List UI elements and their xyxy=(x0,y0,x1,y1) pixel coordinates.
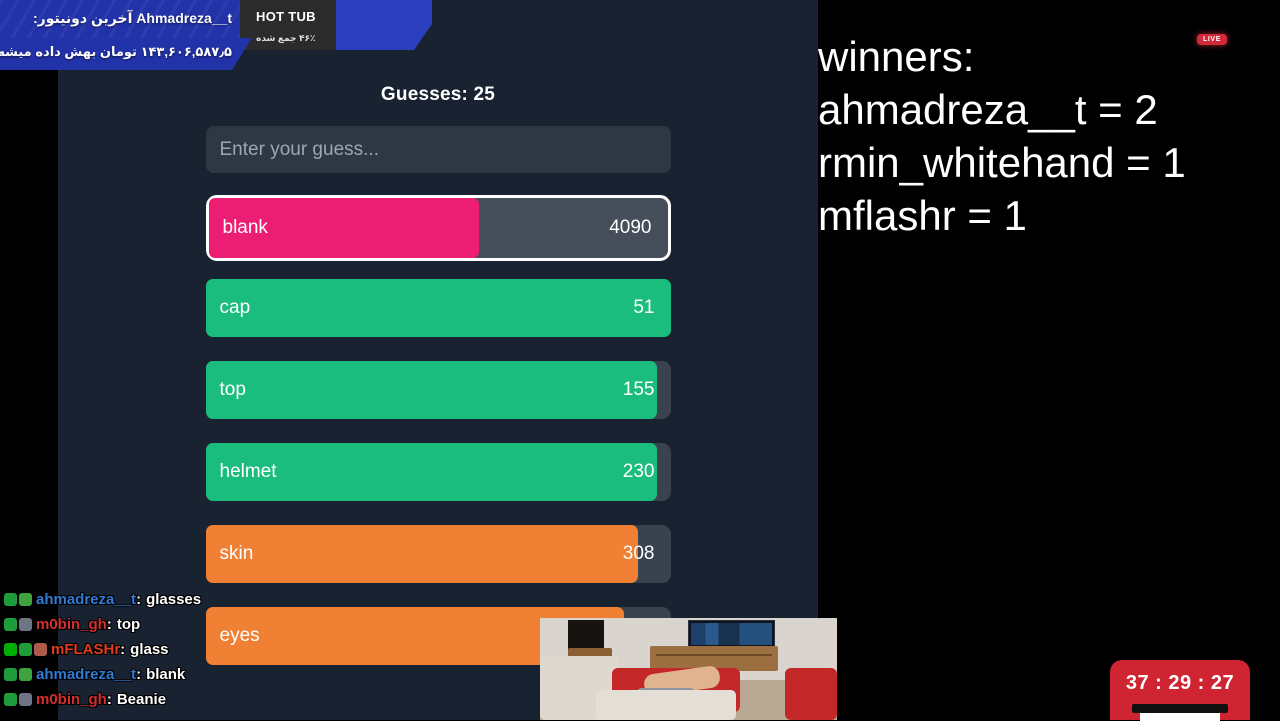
chat-username[interactable]: m0bin_gh xyxy=(36,691,107,708)
donation-amount-line: ۱۴۳,۶۰۶,۵۸۷٫۵ تومان بهش داده میشه xyxy=(0,44,240,60)
guess-bar-fill xyxy=(206,525,638,583)
winner-entry: ahmadreza__t = 2 xyxy=(818,83,1258,136)
guess-bar-fill xyxy=(206,279,671,337)
donor-label: آخرین دونیتور: xyxy=(33,10,132,26)
chat-text: glasses xyxy=(146,591,201,608)
chat-badge-icon xyxy=(4,643,17,656)
guess-bar-value: 155 xyxy=(623,379,655,401)
guess-bar-label: top xyxy=(220,379,246,401)
guess-input[interactable]: Enter your guess... xyxy=(206,126,671,173)
guess-bar-row[interactable]: cap51 xyxy=(206,279,671,337)
chat-badges xyxy=(4,643,47,656)
chat-message: m0bin_gh:Beanie xyxy=(4,687,304,712)
chat-colon: : xyxy=(120,641,125,658)
chat-message: mFLASHr:glass xyxy=(4,637,304,662)
donor-name: Ahmadreza__t xyxy=(136,10,232,26)
donation-banner: Ahmadreza__t آخرین دونیتور: ۱۴۳,۶۰۶,۵۸۷٫… xyxy=(0,0,432,50)
guess-bar-value: 308 xyxy=(623,543,655,565)
guess-bar-label: cap xyxy=(220,297,251,319)
winner-entry: mflashr = 1 xyxy=(818,189,1258,242)
chat-username[interactable]: mFLASHr xyxy=(51,641,120,658)
winners-heading: winners: xyxy=(818,30,1258,83)
goal-progress: ۴۶٪ جمع شده xyxy=(256,33,316,44)
webcam-tv xyxy=(688,620,775,648)
guess-bar-row[interactable]: top155 xyxy=(206,361,671,419)
guess-bar-row[interactable]: blank4090 xyxy=(206,195,671,261)
chat-colon: : xyxy=(136,591,141,608)
guess-bar-label: helmet xyxy=(220,461,277,483)
webcam-sofa-front xyxy=(596,690,736,720)
guess-bar-row[interactable]: skin308 xyxy=(206,525,671,583)
chat-badges xyxy=(4,618,32,631)
chat-badge-icon xyxy=(19,593,32,606)
chat-badge-icon xyxy=(34,643,47,656)
timer-divider xyxy=(1132,704,1228,713)
chat-text: Beanie xyxy=(117,691,166,708)
guess-bar-label: skin xyxy=(220,543,254,565)
guess-bar-value: 4090 xyxy=(609,217,651,239)
chat-username[interactable]: ahmadreza__t xyxy=(36,591,136,608)
guess-bar-value: 230 xyxy=(623,461,655,483)
chat-colon: : xyxy=(107,616,112,633)
chat-badges xyxy=(4,693,32,706)
chat-username[interactable]: ahmadreza__t xyxy=(36,666,136,683)
webcam-overlay xyxy=(540,618,837,720)
chat-overlay: ahmadreza__t:glassesm0bin_gh:topmFLASHr:… xyxy=(4,587,304,712)
chat-message: m0bin_gh:top xyxy=(4,612,304,637)
chat-badge-icon xyxy=(4,668,17,681)
guess-input-placeholder: Enter your guess... xyxy=(220,139,379,161)
chat-username[interactable]: m0bin_gh xyxy=(36,616,107,633)
live-badge: LIVE xyxy=(1197,34,1227,45)
guess-bar-label: blank xyxy=(223,217,268,239)
chat-badge-icon xyxy=(19,618,32,631)
chat-colon: : xyxy=(136,666,141,683)
chat-text: top xyxy=(117,616,140,633)
winner-entry: rmin_whitehand = 1 xyxy=(818,136,1258,189)
winners-panel: winners: ahmadreza__t = 2 rmin_whitehand… xyxy=(818,30,1258,242)
donor-line: Ahmadreza__t آخرین دونیتور: xyxy=(0,10,240,27)
chat-message: ahmadreza__t:blank xyxy=(4,662,304,687)
chat-text: blank xyxy=(146,666,185,683)
chat-badge-icon xyxy=(4,593,17,606)
stream-timer: 37 : 29 : 27 xyxy=(1110,660,1250,720)
guess-bar-value: 51 xyxy=(633,297,654,319)
chat-badges xyxy=(4,668,32,681)
chat-badge-icon xyxy=(19,693,32,706)
stream-canvas: Guesses: 25 Enter your guess... blank409… xyxy=(0,0,1280,720)
goal-title: HOT TUB xyxy=(256,9,316,24)
chat-badge-icon xyxy=(19,668,32,681)
guess-bar-fill xyxy=(206,361,657,419)
chat-badge-icon xyxy=(4,618,17,631)
guess-bar-row[interactable]: helmet230 xyxy=(206,443,671,501)
chat-text: glass xyxy=(130,641,168,658)
timer-value: 37 : 29 : 27 xyxy=(1110,672,1250,695)
donation-banner-right-wing xyxy=(336,0,432,50)
chat-badge-icon xyxy=(19,643,32,656)
chat-badges xyxy=(4,593,32,606)
chat-colon: : xyxy=(107,691,112,708)
chat-message: ahmadreza__t:glasses xyxy=(4,587,304,612)
webcam-red-chair xyxy=(785,668,837,720)
chat-badge-icon xyxy=(4,693,17,706)
